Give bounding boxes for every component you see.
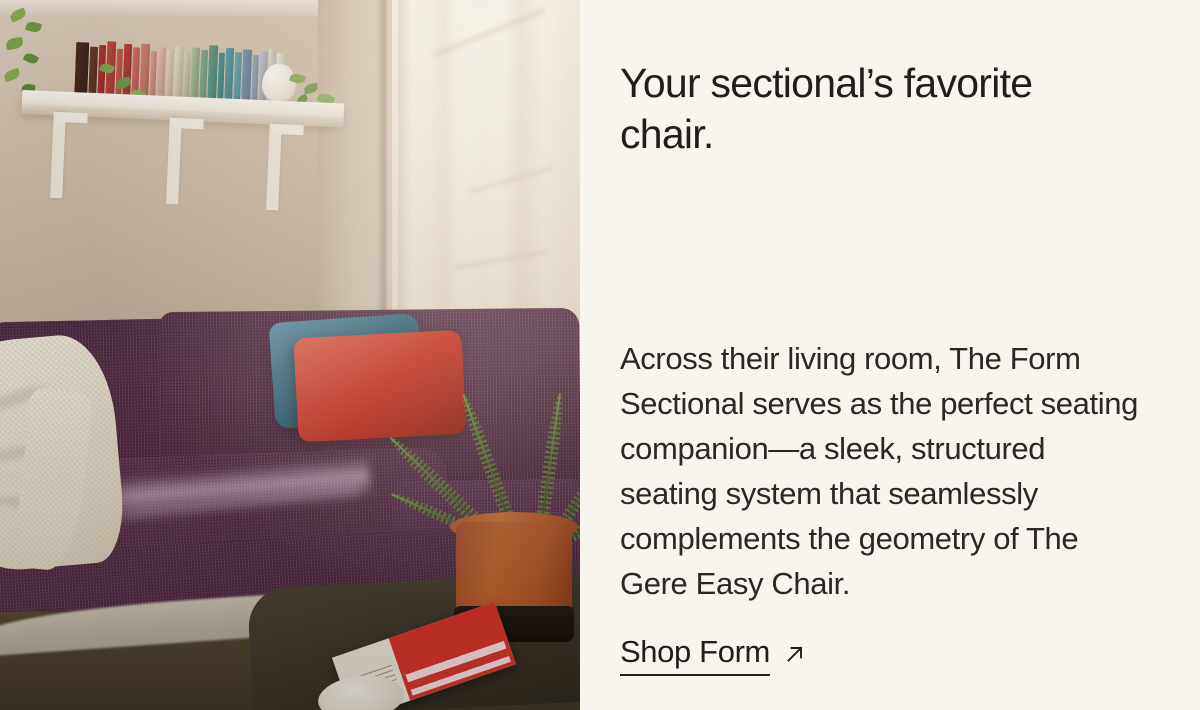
pothos-vine-left bbox=[0, 8, 70, 100]
shelf-bracket bbox=[266, 124, 281, 210]
lifestyle-photo bbox=[0, 0, 580, 710]
promo-banner: Your sectional’s favorite chair. Across … bbox=[0, 0, 1200, 710]
page-title: Your sectional’s favorite chair. bbox=[620, 58, 1040, 160]
copy-panel: Your sectional’s favorite chair. Across … bbox=[580, 0, 1200, 710]
body-paragraph: Across their living room, The Form Secti… bbox=[620, 336, 1150, 606]
shop-form-label: Shop Form bbox=[620, 632, 770, 676]
shop-form-link[interactable]: Shop Form bbox=[620, 632, 807, 676]
arrow-up-right-icon bbox=[783, 642, 807, 666]
shelf-bracket bbox=[166, 118, 181, 204]
shelf-bracket bbox=[50, 112, 65, 198]
